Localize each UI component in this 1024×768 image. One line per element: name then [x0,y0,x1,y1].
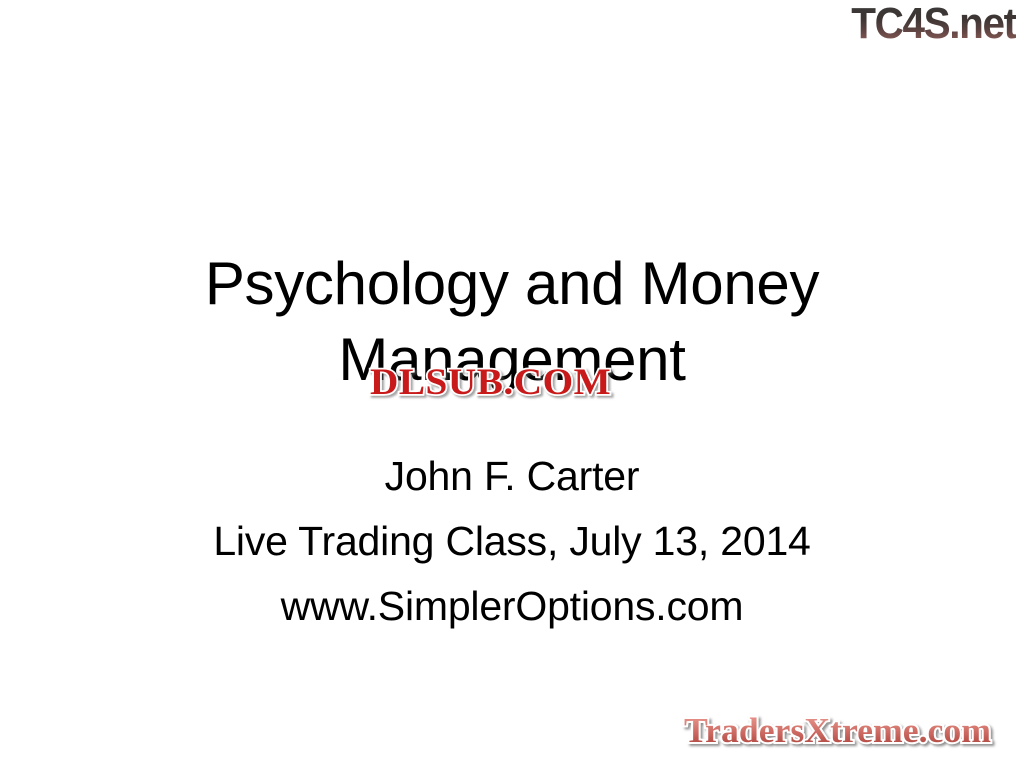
subtitle-class-date: Live Trading Class, July 13, 2014 [120,509,904,574]
subtitle-website-url: www.SimplerOptions.com [120,574,904,639]
dlsub-watermark: DLSUB.COM [370,364,611,402]
slide-title-line-1: Psychology and Money [120,246,904,322]
tradersxtreme-watermark: TradersXtreme.com [684,712,991,750]
tc4s-logo-watermark: TC4S.net [852,1,1016,47]
presentation-slide: TC4S.net Psychology and Money Management… [0,0,1024,768]
subtitle-presenter-name: John F. Carter [120,444,904,509]
slide-subtitle: John F. Carter Live Trading Class, July … [120,444,904,639]
